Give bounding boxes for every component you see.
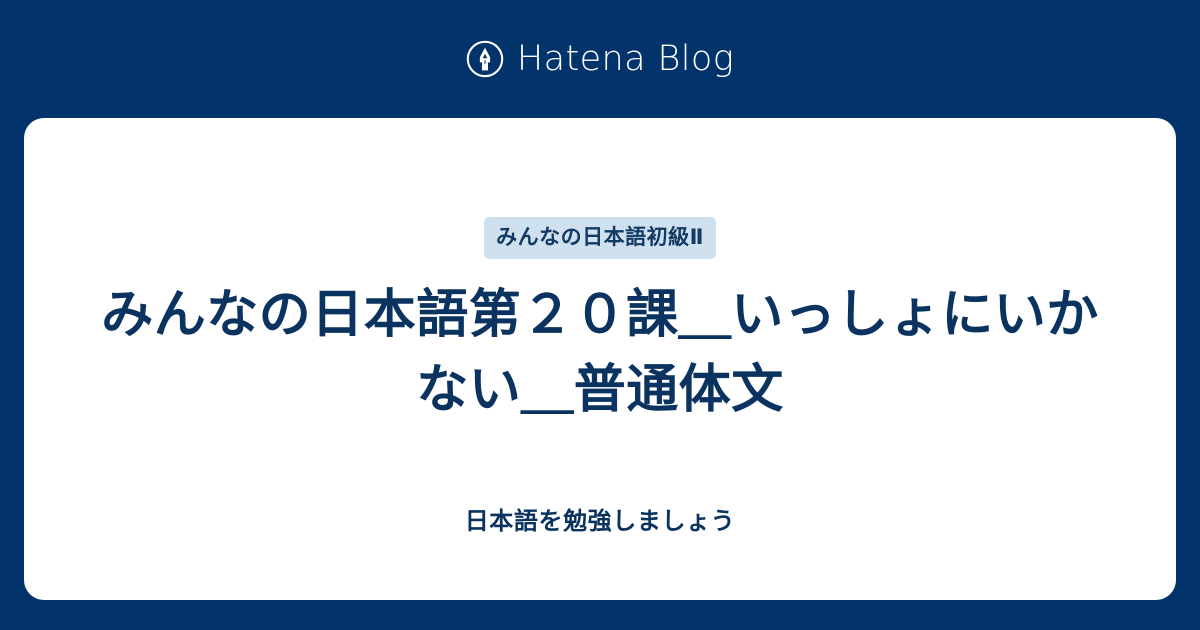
hatena-blog-wordmark: Hatena Blog <box>517 42 734 77</box>
entry-card-inner: みんなの日本語初級Ⅱ みんなの日本語第２０課＿いっしょにいかない＿普通体文 日本… <box>24 118 1176 600</box>
entry-card: みんなの日本語初級Ⅱ みんなの日本語第２０課＿いっしょにいかない＿普通体文 日本… <box>24 118 1176 600</box>
blog-title: 日本語を勉強しましょう <box>24 506 1176 537</box>
category-badge[interactable]: みんなの日本語初級Ⅱ <box>484 217 716 259</box>
ogp-card-root: Hatena Blog みんなの日本語初級Ⅱ みんなの日本語第２０課＿いっしょに… <box>0 0 1200 630</box>
entry-title: みんなの日本語第２０課＿いっしょにいかない＿普通体文 <box>24 278 1176 429</box>
hatena-blog-brand-header: Hatena Blog <box>0 0 1200 118</box>
hatena-pen-nib-icon <box>466 40 504 78</box>
category-badge-row: みんなの日本語初級Ⅱ <box>24 217 1176 259</box>
